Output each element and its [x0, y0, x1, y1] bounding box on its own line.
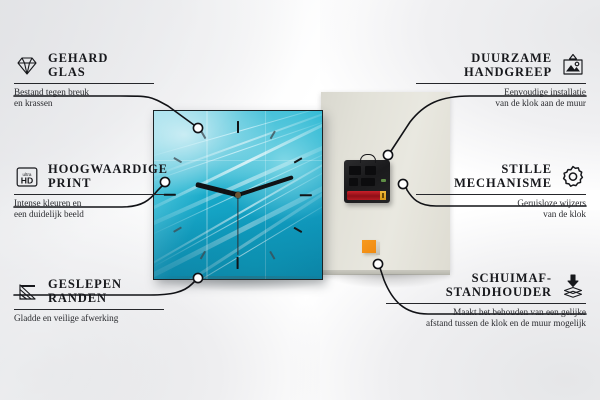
feature-divider — [416, 83, 586, 84]
mechanism-panel-c — [349, 178, 358, 186]
battery-terminal — [382, 193, 384, 198]
feature-description: Gladde en veilige afwerking — [14, 313, 164, 324]
mechanism-panel-a — [349, 166, 361, 175]
mechanism-indicator — [381, 179, 386, 182]
feature-duurzame-handgreep[interactable]: DUURZAME HANDGREEP Eenvoudige installati… — [416, 52, 586, 110]
ultra-hd-icon: ultra HD — [14, 164, 40, 190]
feature-description: Geruisloze wijzers van de klok — [416, 198, 586, 221]
hour-marker — [237, 121, 239, 195]
clock-center-hub — [235, 192, 241, 198]
feature-header: DUURZAME HANDGREEP — [416, 52, 586, 79]
feature-header: SCHUIMAF- STANDHOUDER — [386, 272, 586, 299]
gear-icon — [560, 164, 586, 190]
feature-title: DUURZAME HANDGREEP — [464, 52, 552, 79]
clock-dial — [154, 111, 322, 279]
beveled-edge-icon — [14, 279, 40, 305]
foam-spacer-icon — [560, 273, 586, 299]
feature-divider — [14, 83, 154, 84]
feature-hoogwaardige-print[interactable]: ultra HD HOOGWAARDIGE PRINT Intense kleu… — [14, 163, 164, 221]
mechanism-panel-d — [361, 178, 375, 186]
feature-description: Maakt het behouden van een gelijke afsta… — [386, 307, 586, 330]
feature-title: HOOGWAARDIGE PRINT — [48, 163, 168, 190]
feature-divider — [14, 194, 164, 195]
feature-description: Intense kleuren en een duidelijk beeld — [14, 198, 164, 221]
infographic-canvas: GEHARD GLAS Bestand tegen breuk en krass… — [0, 0, 600, 400]
feature-schuimafstandhouder[interactable]: SCHUIMAF- STANDHOUDER Maakt het behouden… — [386, 272, 586, 330]
feature-divider — [14, 309, 164, 310]
feature-header: GESLEPEN RANDEN — [14, 278, 164, 305]
feature-divider — [386, 303, 586, 304]
hour-marker — [174, 194, 239, 232]
clock-mechanism — [344, 160, 390, 203]
feature-title: GESLEPEN RANDEN — [48, 278, 122, 305]
mechanism-panel-b — [365, 166, 376, 175]
feature-divider — [416, 194, 586, 195]
feature-title: GEHARD GLAS — [48, 52, 108, 79]
product-ground-shadow — [148, 276, 338, 292]
feature-title: SCHUIMAF- STANDHOUDER — [446, 272, 552, 299]
feature-description: Eenvoudige installatie van de klok aan d… — [416, 87, 586, 110]
feature-header: GEHARD GLAS — [14, 52, 154, 79]
feature-header: ultra HD HOOGWAARDIGE PRINT — [14, 163, 164, 190]
svg-text:HD: HD — [21, 175, 33, 185]
foam-spacer-pad — [362, 240, 376, 253]
feature-header: STILLE MECHANISME — [416, 163, 586, 190]
feature-gehard-glas[interactable]: GEHARD GLAS Bestand tegen breuk en krass… — [14, 52, 154, 110]
diamond-icon — [14, 53, 40, 79]
feature-geslepen-randen[interactable]: GESLEPEN RANDEN Gladde en veilige afwerk… — [14, 278, 164, 324]
product-wall-clock — [140, 88, 450, 298]
mechanism-hanging-hook — [360, 154, 376, 163]
foam-spacer-side — [376, 242, 380, 255]
feature-description: Bestand tegen breuk en krassen — [14, 87, 154, 110]
feature-title: STILLE MECHANISME — [454, 163, 552, 190]
hour-marker — [238, 194, 312, 196]
feature-stille-mechanisme[interactable]: STILLE MECHANISME Geruisloze wijzers van… — [416, 163, 586, 221]
battery — [347, 191, 386, 200]
picture-frame-hook-icon — [560, 53, 586, 79]
clock-glass-panel — [153, 110, 323, 280]
